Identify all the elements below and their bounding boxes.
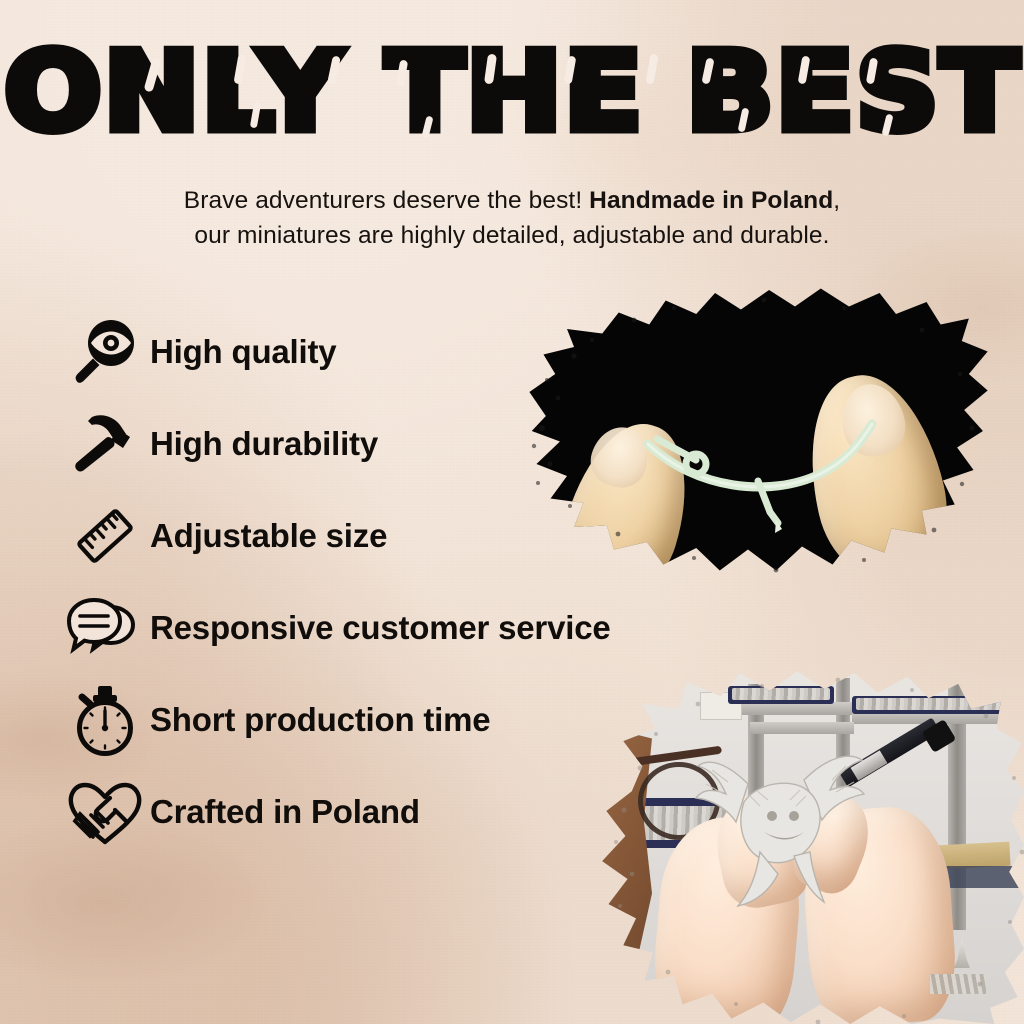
feature-label-customer-service: Responsive customer service — [150, 609, 611, 647]
feature-row-customer-service: Responsive customer service — [62, 582, 762, 674]
feature-label-adjustable-size: Adjustable size — [150, 517, 387, 555]
feature-row-adjustable-size: Adjustable size — [62, 490, 762, 582]
feature-label-high-durability: High durability — [150, 425, 378, 463]
feature-list: High quality High durability — [62, 306, 762, 858]
feature-row-high-durability: High durability — [62, 398, 762, 490]
parts-tray-contents-top-right — [856, 698, 1018, 710]
stray-miniature-parts — [930, 974, 986, 994]
speech-bubbles-icon — [62, 585, 148, 671]
hammer-icon — [62, 401, 148, 487]
subtitle-line1-bold: Handmade in Poland — [589, 187, 833, 214]
feature-row-crafted-in-poland: Crafted in Poland — [62, 766, 762, 858]
feature-label-high-quality: High quality — [150, 333, 336, 371]
infographic-canvas: ONLY THE BEST Brave adventurers deserve … — [0, 0, 1024, 1024]
feature-label-production-time: Short production time — [150, 701, 490, 739]
subtitle-line2: our miniatures are highly detailed, adju… — [194, 222, 829, 249]
subtitle-line1-plain: Brave adventurers deserve the best! — [184, 187, 589, 214]
handshake-heart-icon — [62, 769, 148, 855]
magnifier-eye-icon — [62, 309, 148, 395]
page-title: ONLY THE BEST — [0, 40, 1024, 146]
subtitle-line1-tail: , — [833, 187, 840, 214]
feature-row-production-time: Short production time — [62, 674, 762, 766]
page-title-text: ONLY THE BEST — [4, 40, 1021, 146]
ruler-icon — [62, 493, 148, 579]
subtitle: Brave adventurers deserve the best! Hand… — [62, 183, 962, 253]
feature-row-high-quality: High quality — [62, 306, 762, 398]
feature-label-crafted-in-poland: Crafted in Poland — [150, 793, 420, 831]
shelf-board-mid — [750, 722, 854, 734]
stopwatch-icon — [62, 677, 148, 763]
